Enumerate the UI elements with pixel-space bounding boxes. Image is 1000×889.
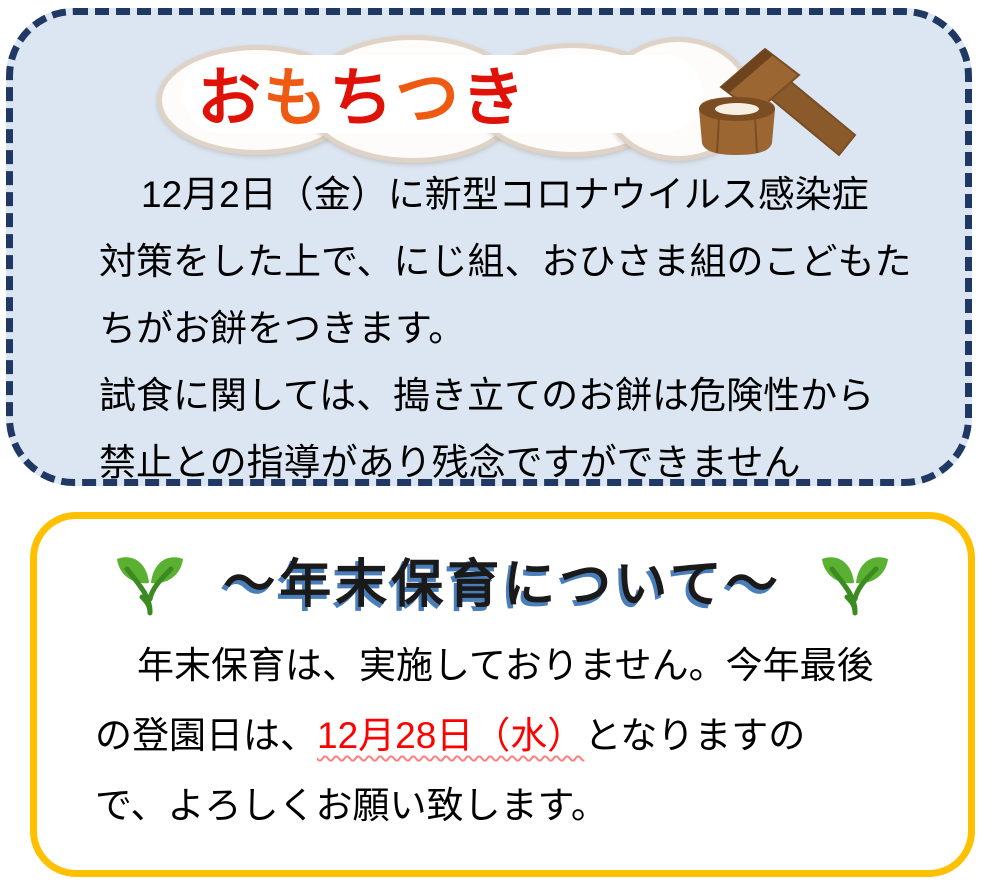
mochitsuki-body-text: 12月2日（金）に新型コロナウイルス感染症 対策をした上で、にじ組、おひさま組の… bbox=[99, 161, 959, 496]
body-line-1: 12月2日（金）に新型コロナウイルス感染症 bbox=[99, 161, 959, 228]
nenmatsu-heading-row: 〜年末保育について〜 bbox=[37, 539, 968, 619]
mochi-banner: お も ち つ き bbox=[153, 33, 733, 153]
line2-prefix: の登園日は、 bbox=[95, 715, 317, 756]
sprout-icon-right bbox=[816, 539, 894, 619]
nenmatsu-line-3: で、よろしくお願い致します。 bbox=[95, 771, 945, 841]
sprout-icon-left bbox=[111, 539, 189, 619]
mochitsuki-notice-box: お も ち つ き 12月2日（金）に新型コロナウイルス感染症 対策をした上で、… bbox=[6, 8, 972, 486]
title-char-5: き bbox=[461, 47, 527, 139]
body-line-2: 対策をした上で、にじ組、おひさま組のこどもた bbox=[99, 228, 959, 295]
line2-suffix: となりますの bbox=[584, 715, 805, 756]
mortar-and-mallet-icon bbox=[673, 37, 863, 157]
nenmatsu-line-1: 年末保育は、実施しておりません。今年最後 bbox=[95, 631, 945, 701]
nenmatsu-heading: 〜年末保育について〜 bbox=[223, 542, 781, 617]
title-char-1: お bbox=[197, 47, 263, 139]
mochitsuki-title: お も ち つ き bbox=[153, 33, 733, 153]
nenmatsu-line-2: の登園日は、12月28日（水）となりますの bbox=[95, 701, 945, 771]
body-line-3: ちがお餅をつきます。 bbox=[99, 295, 959, 362]
last-attendance-date: 12月28日（水） bbox=[317, 715, 584, 756]
title-char-3: ち bbox=[329, 47, 395, 139]
title-char-4: つ bbox=[395, 47, 461, 139]
body-line-5: 禁止との指導があり残念ですができません bbox=[99, 429, 959, 496]
title-char-2: も bbox=[263, 47, 329, 139]
nenmatsu-hoiku-notice-box: 〜年末保育について〜 年末保育は、実施しておりません。今年最後 の登園日は、12… bbox=[30, 512, 975, 877]
body-line-4: 試食に関しては、搗き立てのお餅は危険性から bbox=[99, 362, 959, 429]
nenmatsu-body-text: 年末保育は、実施しておりません。今年最後 の登園日は、12月28日（水）となりま… bbox=[95, 631, 945, 841]
